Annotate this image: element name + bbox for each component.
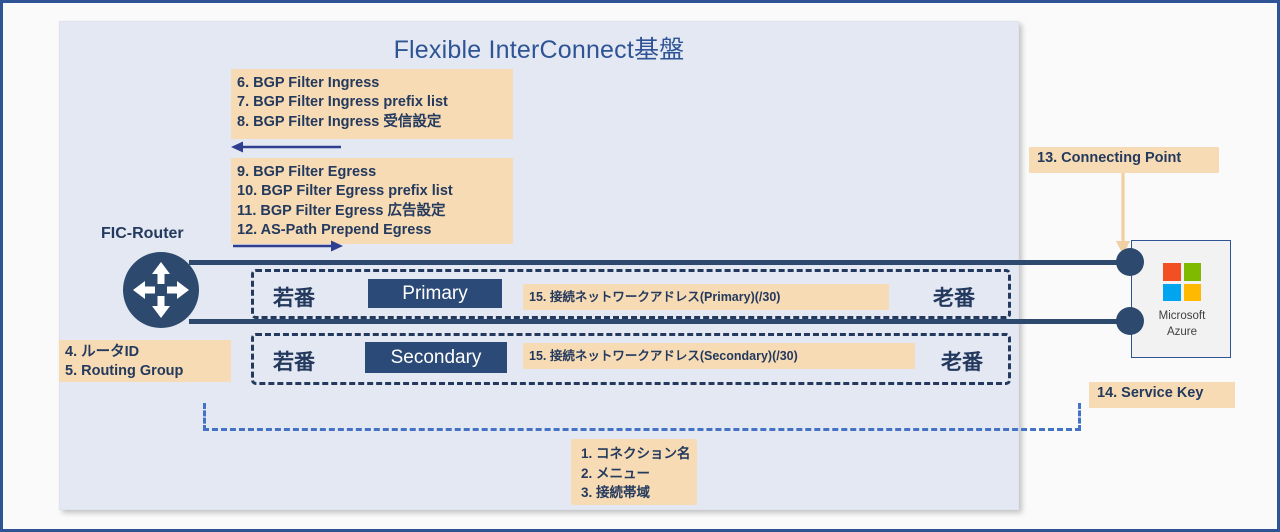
diagram-canvas: Flexible InterConnect基盤 6. BGP Filter In… xyxy=(0,0,1280,532)
logo-square-top-right xyxy=(1184,263,1202,281)
annotation-line: 9. BGP Filter Egress xyxy=(237,163,507,182)
annotation-bgp-ingress: 6. BGP Filter Ingress 7. BGP Filter Ingr… xyxy=(231,69,513,139)
router-icon xyxy=(123,252,199,328)
secondary-badge: Secondary xyxy=(365,342,507,373)
connection-dot-secondary xyxy=(1116,307,1144,335)
annotation-connection-settings: 1. コネクション名 2. メニュー 3. 接続帯域 xyxy=(571,439,697,505)
annotation-line: 2. メニュー xyxy=(581,464,687,484)
annotation-line: 1. コネクション名 xyxy=(581,444,687,464)
secondary-low-number-label: 若番 xyxy=(273,346,315,376)
annotation-line: 8. BGP Filter Ingress 受信設定 xyxy=(237,113,507,132)
egress-arrow-icon xyxy=(231,238,343,254)
page-title: Flexible InterConnect基盤 xyxy=(60,30,1018,66)
annotation-line: 10. BGP Filter Egress prefix list xyxy=(237,182,507,201)
annotation-line: 4. ルータID xyxy=(65,343,225,362)
annotation-line: 5. Routing Group xyxy=(65,362,225,381)
cloud-provider-name-line1: Microsoft xyxy=(1132,309,1232,325)
primary-badge: Primary xyxy=(368,279,502,308)
ingress-arrow-icon xyxy=(231,139,343,155)
cloud-provider-box: Microsoft Azure xyxy=(1131,240,1231,358)
annotation-line: 3. 接続帯域 xyxy=(581,483,687,503)
microsoft-logo-icon xyxy=(1163,263,1201,301)
annotation-service-key: 14. Service Key xyxy=(1089,382,1235,408)
annotation-secondary-network-address: 15. 接続ネットワークアドレス(Secondary)(/30) xyxy=(523,343,915,369)
cloud-provider-caption: Microsoft Azure xyxy=(1132,309,1232,340)
annotation-router-id: 4. ルータID 5. Routing Group xyxy=(59,340,231,382)
logo-square-top-left xyxy=(1163,263,1181,281)
router-label: FIC-Router xyxy=(101,225,184,243)
primary-high-number-label: 老番 xyxy=(933,282,975,312)
connecting-point-arrow-icon xyxy=(1113,173,1133,257)
logo-square-bottom-left xyxy=(1163,284,1181,302)
fic-platform-panel: Flexible InterConnect基盤 xyxy=(59,21,1019,510)
annotation-bgp-egress: 9. BGP Filter Egress 10. BGP Filter Egre… xyxy=(231,158,513,244)
annotation-primary-network-address: 15. 接続ネットワークアドレス(Primary)(/30) xyxy=(523,284,889,310)
link-line-secondary xyxy=(189,319,1129,324)
secondary-high-number-label: 老番 xyxy=(941,346,983,376)
service-key-connector xyxy=(203,403,1081,431)
primary-low-number-label: 若番 xyxy=(273,282,315,312)
annotation-line: 11. BGP Filter Egress 広告設定 xyxy=(237,202,507,221)
connection-dot-primary xyxy=(1116,248,1144,276)
link-line-primary xyxy=(189,260,1129,265)
cloud-provider-name-line2: Azure xyxy=(1132,325,1232,341)
annotation-line: 6. BGP Filter Ingress xyxy=(237,74,507,93)
annotation-connecting-point: 13. Connecting Point xyxy=(1029,147,1219,173)
logo-square-bottom-right xyxy=(1184,284,1202,302)
annotation-line: 7. BGP Filter Ingress prefix list xyxy=(237,93,507,112)
